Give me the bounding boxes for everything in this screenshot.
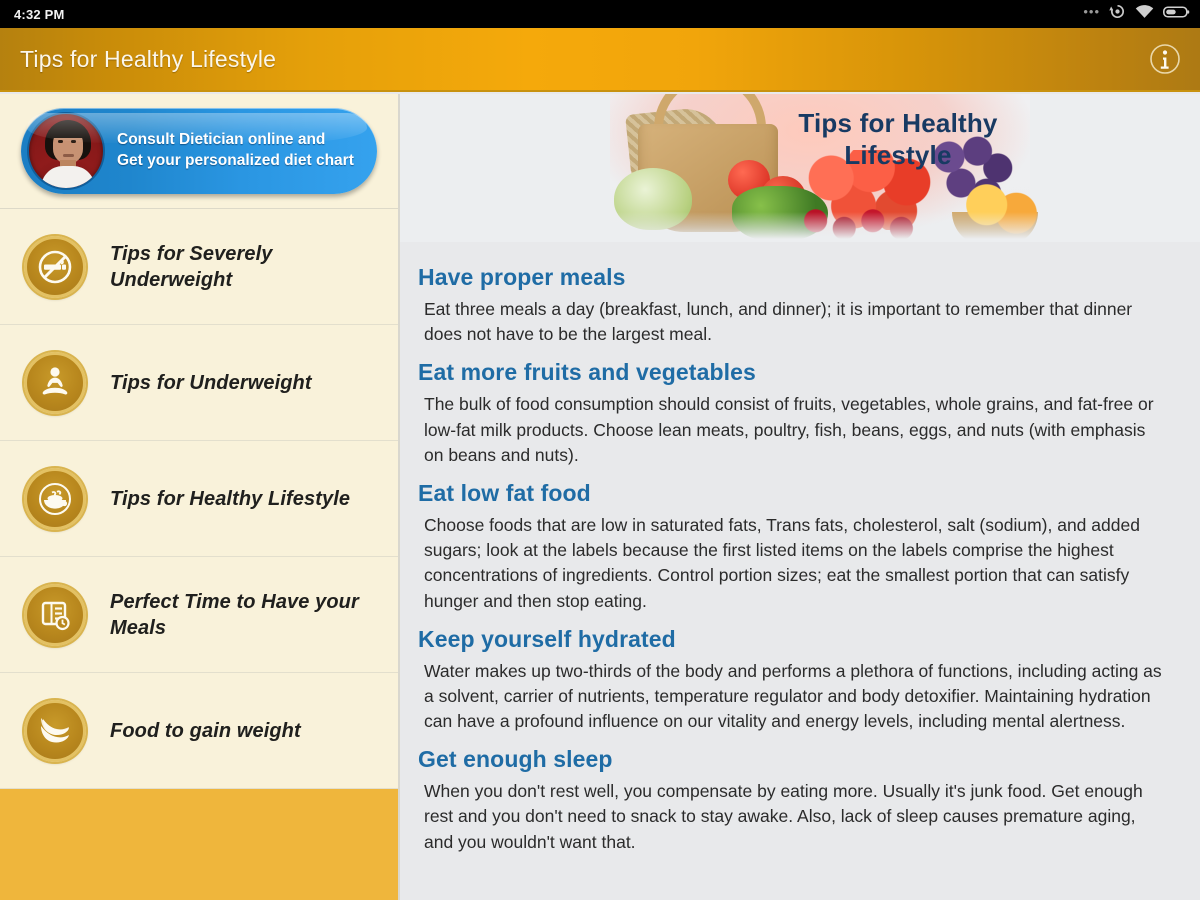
hero-title: Tips for Healthy Lifestyle <box>768 108 1028 171</box>
section-body: When you don't rest well, you compensate… <box>418 779 1166 855</box>
sidebar-nav-list: Tips for Severely Underweight Tips for U… <box>0 209 398 789</box>
consult-dietician-banner[interactable]: Consult Dietician online and Get your pe… <box>21 108 377 194</box>
section-heading: Have proper meals <box>418 264 1166 291</box>
section-heading: Eat more fruits and vegetables <box>418 359 1166 386</box>
banana-icon <box>24 700 86 762</box>
hero-title-line-1: Tips for Healthy <box>768 108 1028 140</box>
schedule-clock-icon <box>24 584 86 646</box>
hero-title-line-2: Lifestyle <box>768 140 1028 172</box>
sidebar-item-food-to-gain-weight[interactable]: Food to gain weight <box>0 673 398 789</box>
sidebar-item-healthy-lifestyle[interactable]: Tips for Healthy Lifestyle <box>0 441 398 557</box>
tips-article: Have proper meals Eat three meals a day … <box>400 242 1200 855</box>
dietician-avatar <box>27 112 105 190</box>
sidebar-item-underweight[interactable]: Tips for Underweight <box>0 325 398 441</box>
section-body: Eat three meals a day (breakfast, lunch,… <box>418 297 1166 347</box>
consult-line-2: Get your personalized diet chart <box>117 151 354 172</box>
page-title: Tips for Healthy Lifestyle <box>20 46 276 73</box>
section-body: Choose foods that are low in saturated f… <box>418 513 1166 614</box>
app-title-bar: Tips for Healthy Lifestyle <box>0 28 1200 92</box>
sidebar-item-label: Tips for Severely Underweight <box>110 241 380 293</box>
info-button[interactable] <box>1148 42 1182 76</box>
battery-icon <box>1163 5 1190 24</box>
screen-rotation-icon <box>1109 3 1126 25</box>
main-layout: Consult Dietician online and Get your pe… <box>0 94 1200 900</box>
sidebar: Consult Dietician online and Get your pe… <box>0 94 400 900</box>
section-heading: Get enough sleep <box>418 746 1166 773</box>
sidebar-item-label: Perfect Time to Have your Meals <box>110 589 380 641</box>
sidebar-item-severely-underweight[interactable]: Tips for Severely Underweight <box>0 209 398 325</box>
section-body: Water makes up two-thirds of the body an… <box>418 659 1166 735</box>
section-body: The bulk of food consumption should cons… <box>418 392 1166 468</box>
sidebar-item-label: Tips for Healthy Lifestyle <box>110 486 350 512</box>
no-smoking-icon <box>24 236 86 298</box>
content-panel[interactable]: Tips for Healthy Lifestyle Have proper m… <box>400 94 1200 900</box>
consult-banner-zone: Consult Dietician online and Get your pe… <box>0 94 398 209</box>
section-heading: Eat low fat food <box>418 480 1166 507</box>
sidebar-bottom-fill <box>0 789 398 900</box>
sidebar-item-perfect-time-meals[interactable]: Perfect Time to Have your Meals <box>0 557 398 673</box>
status-icons: ••• <box>1083 3 1190 25</box>
wifi-icon <box>1135 4 1154 24</box>
more-dots-icon: ••• <box>1083 5 1100 18</box>
section-heading: Keep yourself hydrated <box>418 626 1166 653</box>
status-bar: 4:32 PM ••• <box>0 0 1200 28</box>
sidebar-item-label: Tips for Underweight <box>110 370 312 396</box>
food-bowl-icon <box>24 468 86 530</box>
sidebar-item-label: Food to gain weight <box>110 718 301 744</box>
meditation-icon <box>24 352 86 414</box>
consult-banner-text: Consult Dietician online and Get your pe… <box>117 130 354 172</box>
info-icon <box>1149 43 1181 75</box>
status-clock: 4:32 PM <box>14 7 65 22</box>
consult-line-1: Consult Dietician online and <box>117 130 354 151</box>
hero-banner: Tips for Healthy Lifestyle <box>400 94 1200 242</box>
